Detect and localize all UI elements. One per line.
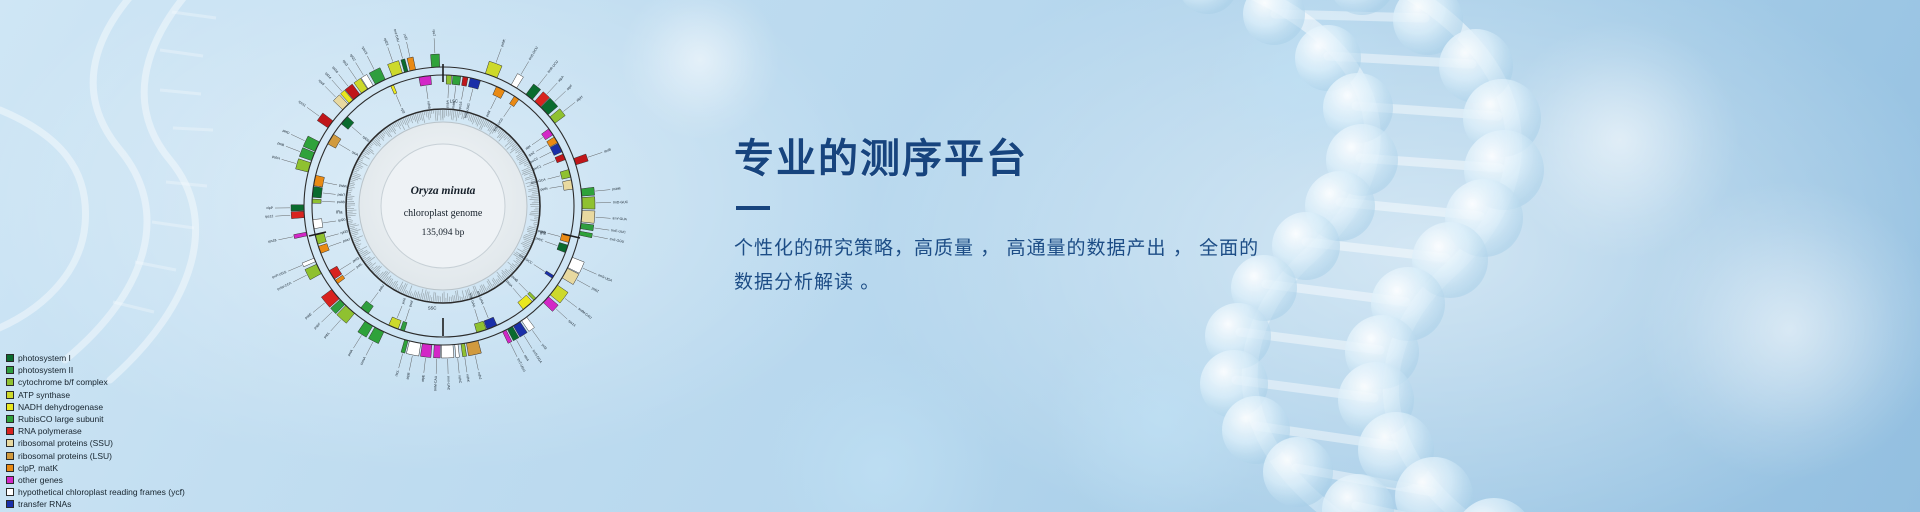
- gene-label: psbH: [272, 155, 281, 161]
- gc-tick: [528, 195, 538, 196]
- legend-swatch: [6, 427, 14, 435]
- genome-map-legend: photosystem Iphotosystem IIcytochrome b/…: [6, 352, 185, 512]
- gene-label: rpoC1: [532, 164, 542, 171]
- gc-tick: [465, 296, 466, 299]
- gc-tick: [421, 113, 423, 121]
- leader-line: [331, 320, 341, 331]
- gc-tick: [514, 260, 519, 264]
- gc-tick: [522, 242, 530, 246]
- legend-item: ribosomal proteins (SSU): [6, 437, 185, 449]
- gc-tick: [348, 221, 353, 222]
- gc-tick: [349, 223, 353, 224]
- gc-tick: [412, 115, 414, 120]
- leader-line: [555, 91, 566, 101]
- leader-line: [595, 190, 610, 191]
- leader-line: [291, 134, 305, 140]
- gene-label: rps18: [268, 238, 277, 244]
- leader-line: [426, 86, 428, 99]
- gc-tick: [395, 123, 397, 127]
- gc-tick: [363, 153, 366, 155]
- gene-feature: [485, 61, 502, 78]
- gc-tick: [365, 258, 371, 262]
- gc-tick: [529, 199, 538, 200]
- gc-tick: [523, 169, 532, 173]
- legend-swatch: [6, 391, 14, 399]
- leader-line: [588, 152, 602, 157]
- leader-line: [543, 161, 555, 166]
- gc-tick: [349, 187, 355, 188]
- gene-label: rps16: [458, 101, 463, 110]
- gene-label: trnF-GAA: [468, 293, 476, 309]
- gc-tick: [523, 239, 531, 242]
- gene-feature: [452, 75, 461, 85]
- legend-label: photosystem I: [18, 352, 71, 364]
- gc-tick: [531, 197, 539, 198]
- leader-line: [275, 215, 290, 216]
- gene-feature: [441, 345, 454, 358]
- leader-line: [548, 176, 561, 179]
- leader-line: [504, 106, 511, 117]
- gene-feature: [312, 199, 321, 203]
- gc-tick: [352, 236, 356, 237]
- legend-swatch: [6, 378, 14, 386]
- gc-tick: [455, 111, 456, 118]
- legend-label: RubisCO large subunit: [18, 413, 104, 425]
- gc-tick: [377, 273, 379, 276]
- gc-tick: [528, 190, 537, 192]
- gc-tick: [412, 294, 413, 297]
- gc-tick: [523, 237, 533, 241]
- legend-item: photosystem I: [6, 352, 185, 364]
- leader-line: [388, 47, 393, 61]
- gc-tick: [462, 290, 464, 299]
- gene-label: rbcL: [394, 369, 400, 377]
- gene-label: psbK: [500, 38, 507, 47]
- gc-tick: [497, 275, 502, 281]
- legend-label: ribosomal proteins (LSU): [18, 450, 112, 462]
- gc-tick: [367, 147, 373, 152]
- gene-label: rps7: [432, 30, 436, 37]
- gc-tick: [524, 235, 533, 238]
- gc-tick: [507, 137, 509, 139]
- gene-label: rps14: [567, 319, 576, 328]
- gc-tick: [497, 129, 499, 132]
- legend-label: transfer RNAs: [18, 498, 71, 510]
- gc-tick: [516, 154, 523, 159]
- leader-line: [448, 85, 449, 98]
- leader-line: [399, 44, 403, 58]
- leader-line: [540, 152, 552, 158]
- legend-swatch: [6, 366, 14, 374]
- gc-tick: [354, 169, 358, 171]
- gene-feature: [431, 54, 440, 67]
- gc-tick: [349, 224, 356, 225]
- gc-tick: [529, 174, 533, 175]
- gc-tick: [372, 266, 377, 271]
- gene-label: trnI-CAU: [393, 29, 400, 43]
- leader-line: [307, 107, 319, 116]
- leader-line: [282, 159, 296, 163]
- gene-feature: [291, 211, 304, 218]
- gc-tick: [360, 250, 367, 254]
- legend-item: RubisCO large subunit: [6, 413, 185, 425]
- legend-item: ribosomal proteins (LSU): [6, 450, 185, 462]
- gene-feature: [291, 205, 304, 211]
- leader-line: [313, 303, 325, 313]
- gc-tick: [417, 291, 419, 298]
- gene-feature: [542, 129, 553, 140]
- gc-tick: [534, 219, 538, 220]
- gc-tick: [517, 156, 524, 161]
- gc-tick: [505, 269, 510, 274]
- leader-line: [517, 340, 524, 353]
- gc-tick: [348, 196, 355, 197]
- gene-feature: [317, 113, 333, 128]
- gene-label: trnD-GUC: [613, 200, 629, 204]
- gc-tick: [428, 111, 429, 120]
- gene-label: trnS-UGA: [598, 273, 614, 283]
- leader-line: [366, 342, 373, 355]
- gc-tick: [357, 248, 360, 249]
- gene-feature: [518, 295, 533, 309]
- gene-label: trnV-UAC: [446, 376, 450, 391]
- leader-line: [510, 343, 517, 356]
- gene-label: trnS-GCU: [528, 45, 539, 60]
- leader-line: [339, 74, 348, 86]
- gene-label: psbF: [313, 322, 321, 330]
- gene-label: rps11: [298, 100, 307, 108]
- gene-feature: [391, 85, 397, 94]
- leader-line: [339, 144, 350, 151]
- gc-tick: [426, 292, 428, 301]
- gc-tick: [392, 281, 396, 287]
- gc-tick: [493, 284, 495, 287]
- leader-line: [325, 86, 336, 97]
- gc-tick: [371, 143, 374, 145]
- gc-tick: [350, 229, 357, 231]
- gene-feature: [407, 57, 416, 71]
- region-label: SSC: [428, 305, 437, 310]
- legend-item: hypothetical chloroplast reading frames …: [6, 486, 185, 498]
- gene-label: psaB: [511, 275, 520, 284]
- legend-label: NADH dehydrogenase: [18, 401, 103, 413]
- gene-label: rpl14: [324, 71, 332, 79]
- gc-tick: [458, 111, 459, 117]
- leader-line: [434, 38, 435, 53]
- legend-label: ATP synthase: [18, 389, 70, 401]
- gc-tick: [355, 243, 359, 245]
- gene-label: atpI: [524, 144, 531, 151]
- gc-tick: [429, 295, 430, 301]
- gc-tick: [349, 189, 353, 190]
- gc-tick: [533, 224, 537, 225]
- gene-feature: [401, 59, 408, 73]
- gene-label: rpl2: [400, 108, 406, 115]
- gc-tick: [454, 295, 455, 301]
- chloroplast-genome-map: psbAmatKrps16trnQ-UUGpsbKpsbItrnS-GCUtrn…: [243, 6, 643, 406]
- gc-tick: [468, 114, 470, 120]
- gene-label: trnY-GUA: [612, 216, 627, 221]
- gene-label: rpl33: [340, 229, 348, 235]
- gc-tick: [534, 222, 538, 223]
- gc-tick: [348, 190, 352, 191]
- gc-tick: [488, 286, 490, 290]
- gene-label: petN: [540, 186, 548, 191]
- gc-tick: [413, 291, 415, 298]
- gene-label: psaI: [408, 300, 414, 307]
- gc-tick: [351, 232, 358, 234]
- gene-label: rpl23: [383, 38, 389, 47]
- gene-feature: [305, 264, 322, 280]
- gc-tick: [451, 110, 452, 119]
- gc-tick: [522, 170, 532, 174]
- gc-tick: [533, 186, 537, 187]
- gc-tick: [380, 134, 384, 139]
- gc-tick: [435, 293, 436, 302]
- gene-label: rpoC2: [529, 157, 539, 165]
- gene-label: rps19: [361, 46, 368, 55]
- leader-line: [367, 56, 374, 69]
- gene-label: ndhB: [426, 101, 431, 110]
- gc-tick: [481, 285, 485, 293]
- gc-tick: [453, 295, 454, 301]
- gene-feature: [341, 117, 354, 130]
- gene-feature: [369, 68, 385, 85]
- gene-label: psbM: [612, 187, 621, 192]
- legend-label: cytochrome b/f complex: [18, 376, 108, 388]
- gene-label: cemA: [359, 355, 367, 365]
- gc-tick: [384, 277, 388, 282]
- gc-tick: [348, 215, 356, 216]
- leader-line: [536, 145, 547, 152]
- gc-tick: [515, 264, 518, 266]
- gene-label: atpB: [405, 371, 410, 379]
- gc-tick: [521, 243, 530, 247]
- gene-label: rps3: [342, 59, 349, 67]
- leader-line: [465, 357, 467, 372]
- leader-line: [483, 306, 488, 318]
- gc-tick: [361, 251, 368, 255]
- gene-label: trnC-GCA: [531, 177, 547, 185]
- gc-tick: [361, 156, 364, 158]
- legend-item: NADH dehydrogenase: [6, 401, 185, 413]
- gc-tick: [529, 226, 537, 228]
- gc-tick: [437, 110, 438, 120]
- gc-tick: [499, 132, 504, 138]
- leader-line: [538, 74, 547, 86]
- gene-label: trnS-GGA: [532, 349, 544, 364]
- gc-tick: [348, 219, 351, 220]
- gene-feature: [389, 317, 402, 329]
- legend-label: clpP, matK: [18, 462, 58, 474]
- gc-tick: [364, 257, 370, 261]
- gc-tick: [528, 188, 537, 190]
- gc-tick: [415, 292, 417, 298]
- leader-line: [475, 309, 479, 321]
- legend-label: RNA polymerase: [18, 425, 82, 437]
- gc-tick: [362, 154, 370, 159]
- gc-tick: [405, 290, 407, 294]
- leader-line: [563, 102, 575, 111]
- gene-feature: [455, 344, 460, 357]
- legend-swatch: [6, 403, 14, 411]
- leader-line: [545, 241, 557, 245]
- legend-label: ribosomal proteins (SSU): [18, 437, 113, 449]
- leader-line: [519, 283, 528, 292]
- leader-line: [532, 330, 541, 342]
- gene-label: psbE: [304, 312, 313, 320]
- leader-line: [424, 358, 426, 373]
- leader-line: [462, 87, 464, 100]
- gc-tick: [524, 172, 533, 175]
- gc-tick: [357, 246, 360, 247]
- leader-line: [352, 127, 362, 136]
- leader-line: [593, 236, 608, 239]
- gene-label: trnT-UGU: [516, 358, 526, 373]
- gc-tick: [397, 122, 401, 129]
- leader-line: [396, 95, 401, 107]
- gc-tick: [460, 296, 461, 300]
- leader-line: [594, 228, 609, 230]
- gene-label: psbB: [337, 200, 346, 204]
- region-label: IRa: [336, 209, 343, 214]
- gene-label: ycf2: [403, 34, 408, 41]
- gene-label: psbZ: [591, 286, 600, 293]
- legend-item: photosystem II: [6, 364, 185, 376]
- gc-tick: [387, 278, 391, 284]
- gc-tick: [368, 145, 371, 147]
- gene-label: petD: [282, 128, 291, 135]
- leader-line: [356, 63, 364, 76]
- gc-tick: [502, 273, 507, 278]
- leader-line: [550, 186, 563, 188]
- gc-tick: [406, 291, 407, 294]
- leader-line: [548, 233, 561, 236]
- gc-tick: [487, 288, 489, 291]
- gene-label: rpoB: [603, 147, 612, 153]
- legend-swatch: [6, 415, 14, 423]
- gc-tick: [396, 287, 398, 290]
- gc-tick: [355, 167, 359, 169]
- gc-tick: [524, 249, 528, 251]
- gc-tick: [456, 111, 458, 121]
- leader-line: [407, 42, 410, 57]
- gc-tick: [410, 292, 412, 297]
- title-divider: [736, 206, 770, 210]
- gc-tick: [353, 236, 363, 240]
- legend-item: RNA polymerase: [6, 425, 185, 437]
- gc-tick: [435, 110, 436, 120]
- gc-tick: [462, 297, 463, 300]
- leader-line: [278, 237, 293, 240]
- genome-length: 135,094 bp: [422, 228, 465, 238]
- legend-swatch: [6, 439, 14, 447]
- leader-line: [521, 61, 529, 74]
- gene-label: rpl20: [338, 218, 346, 223]
- gc-tick: [522, 167, 531, 171]
- leader-line: [348, 67, 356, 79]
- gc-tick: [456, 291, 457, 301]
- gc-tick: [389, 279, 393, 285]
- gene-label: rps8: [318, 79, 326, 87]
- leader-line: [344, 269, 355, 277]
- gene-label: ndhC: [457, 375, 462, 384]
- gene-label: ndhJ: [477, 372, 483, 380]
- legend-label: photosystem II: [18, 364, 73, 376]
- gc-tick: [350, 228, 355, 229]
- gene-feature: [581, 211, 595, 224]
- sequencing-platform-banner: psbAmatKrps16trnQ-UUGpsbKpsbItrnS-GCUtrn…: [0, 0, 1920, 512]
- gene-feature: [580, 223, 594, 230]
- organism-name: Oryza minuta: [411, 185, 476, 197]
- gene-label: psbN: [339, 183, 348, 189]
- legend-swatch: [6, 354, 14, 362]
- gc-tick: [350, 183, 355, 184]
- leader-line: [286, 146, 300, 151]
- legend-swatch: [6, 500, 14, 508]
- gc-tick: [428, 292, 429, 301]
- legend-swatch: [6, 476, 14, 484]
- gc-tick: [453, 111, 454, 121]
- gene-label: trnP-UGG: [272, 270, 288, 280]
- gc-tick: [360, 158, 363, 160]
- gc-tick: [433, 292, 434, 302]
- legend-swatch: [6, 452, 14, 460]
- leader-line: [326, 234, 339, 237]
- gc-tick: [383, 131, 385, 134]
- gc-tick: [505, 271, 510, 276]
- leader-line: [399, 354, 403, 368]
- gc-tick: [393, 281, 397, 288]
- gene-feature: [446, 75, 451, 84]
- gene-feature: [361, 301, 374, 314]
- gene-feature: [582, 197, 595, 209]
- gc-tick: [354, 171, 357, 172]
- legend-item: transfer RNAs: [6, 498, 185, 510]
- gc-tick: [519, 159, 527, 163]
- gene-feature: [581, 187, 595, 196]
- gc-tick: [408, 116, 410, 121]
- legend-item: other genes: [6, 474, 185, 486]
- region-label: IRb: [540, 231, 547, 236]
- genome-subtitle: chloroplast genome: [404, 208, 483, 219]
- gene-label: rpl22: [349, 53, 356, 62]
- leader-line: [405, 309, 409, 321]
- gene-label: atpH: [575, 95, 584, 103]
- gc-tick: [350, 181, 354, 182]
- gc-tick: [532, 193, 538, 194]
- gene-label: trnfM-CAU: [577, 307, 593, 320]
- gene-label: atpE: [421, 374, 426, 382]
- legend-swatch: [6, 464, 14, 472]
- gene-label: clpP: [266, 206, 273, 210]
- legend-label: hypothetical chloroplast reading frames …: [18, 486, 185, 498]
- gene-feature: [294, 232, 308, 238]
- leader-line: [323, 221, 336, 223]
- gene-label: psbI: [485, 110, 491, 118]
- gene-label: petB: [277, 141, 286, 147]
- gene-label: psbT: [337, 192, 345, 197]
- gc-tick: [359, 159, 362, 161]
- gene-feature: [579, 231, 593, 238]
- gene-feature: [312, 186, 322, 197]
- leader-line: [353, 335, 361, 348]
- leader-line: [513, 288, 521, 298]
- leader-line: [583, 268, 597, 274]
- banner-copy: 专业的测序平台 个性化的研究策略，高质量 ， 高通量的数据产出 ， 全面的数据分…: [734, 136, 1434, 300]
- leader-line: [534, 265, 545, 272]
- gc-tick: [359, 250, 363, 252]
